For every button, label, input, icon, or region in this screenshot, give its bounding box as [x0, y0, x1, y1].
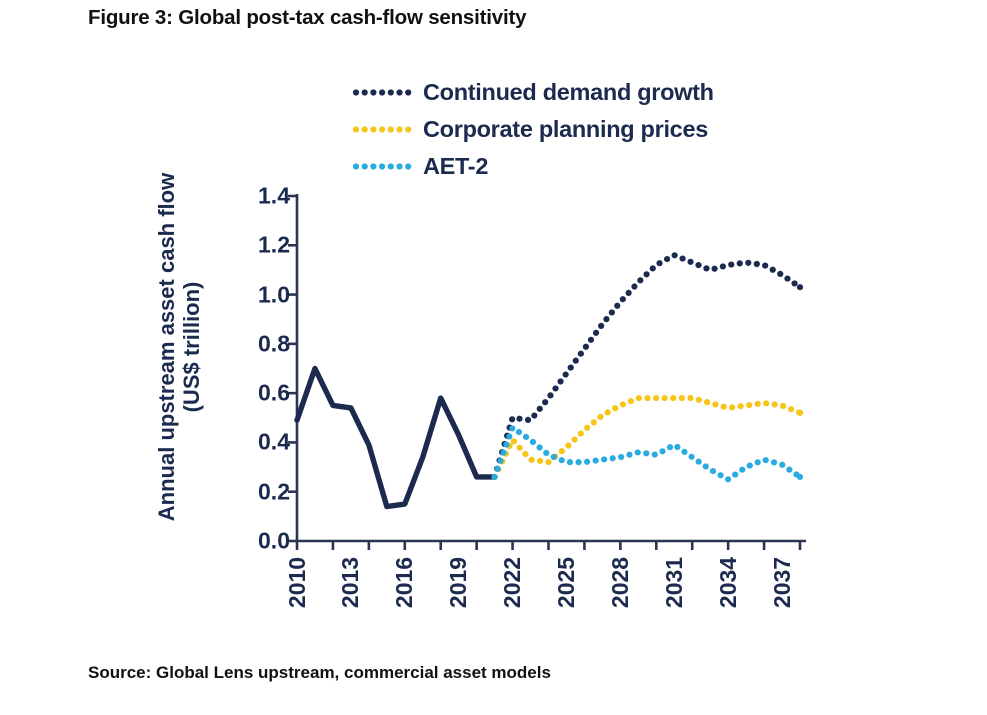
- legend-dotted-line-icon: [352, 88, 414, 97]
- legend-item-label: Continued demand growth: [423, 79, 714, 106]
- x-axis-tick-label: 2010: [284, 557, 311, 608]
- x-axis-tick-label: 2031: [661, 557, 688, 608]
- legend-item-label: Corporate planning prices: [423, 116, 708, 143]
- x-axis-tick-label: 2022: [499, 557, 526, 608]
- x-axis-tick-label: 2019: [445, 557, 472, 608]
- legend-item[interactable]: AET-2: [352, 152, 714, 180]
- x-axis-tick-label: 2037: [769, 557, 796, 608]
- source-note: Source: Global Lens upstream, commercial…: [88, 663, 551, 683]
- legend-item[interactable]: Corporate planning prices: [352, 115, 714, 143]
- x-axis-tick-label: 2016: [391, 557, 418, 608]
- legend-dotted-line-icon: [352, 125, 414, 134]
- x-axis-tick-label: 2025: [553, 557, 580, 608]
- legend-item[interactable]: Continued demand growth: [352, 78, 714, 106]
- x-axis-tick-label: 2034: [715, 557, 742, 608]
- x-axis-tick-label: 2028: [607, 557, 634, 608]
- legend-dotted-line-icon: [352, 162, 414, 171]
- x-axis-tick-label: 2013: [337, 557, 364, 608]
- legend-item-label: AET-2: [423, 153, 488, 180]
- chart-legend: Continued demand growthCorporate plannin…: [352, 78, 714, 180]
